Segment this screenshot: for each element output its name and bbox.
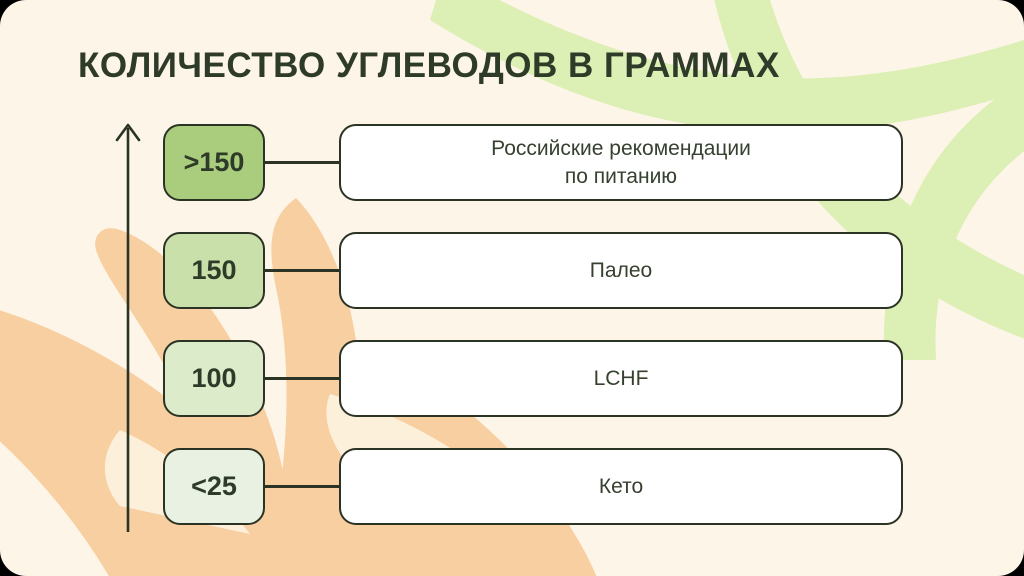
diet-name-card[interactable]: Палео <box>339 232 903 309</box>
carb-amount-badge[interactable]: 150 <box>163 232 265 309</box>
carb-amount-value: <25 <box>191 471 237 502</box>
connector-line <box>264 485 340 488</box>
diet-row: >150 Российские рекомендации по питанию <box>163 124 903 201</box>
carb-amount-value: 100 <box>191 363 236 394</box>
carb-amount-value: 150 <box>191 255 236 286</box>
diet-row: 150 Палео <box>163 232 903 309</box>
diet-row: <25 Кето <box>163 448 903 525</box>
connector-line <box>264 269 340 272</box>
connector-line <box>264 161 340 164</box>
diet-name-label: Кето <box>599 473 643 501</box>
carb-amount-badge[interactable]: <25 <box>163 448 265 525</box>
diet-name-card[interactable]: LCHF <box>339 340 903 417</box>
diet-name-label: LCHF <box>594 365 649 393</box>
diet-name-label: Российские рекомендации по питанию <box>491 135 751 190</box>
carb-amount-badge[interactable]: >150 <box>163 124 265 201</box>
carb-amount-value: >150 <box>184 147 245 178</box>
diet-rows: >150 Российские рекомендации по питанию … <box>0 0 1024 576</box>
diet-name-card[interactable]: Кето <box>339 448 903 525</box>
diet-name-label: Палео <box>590 257 652 285</box>
diet-name-card[interactable]: Российские рекомендации по питанию <box>339 124 903 201</box>
infographic-canvas: КОЛИЧЕСТВО УГЛЕВОДОВ В ГРАММАХ >150 Росс… <box>0 0 1024 576</box>
connector-line <box>264 377 340 380</box>
carb-amount-badge[interactable]: 100 <box>163 340 265 417</box>
diet-row: 100 LCHF <box>163 340 903 417</box>
